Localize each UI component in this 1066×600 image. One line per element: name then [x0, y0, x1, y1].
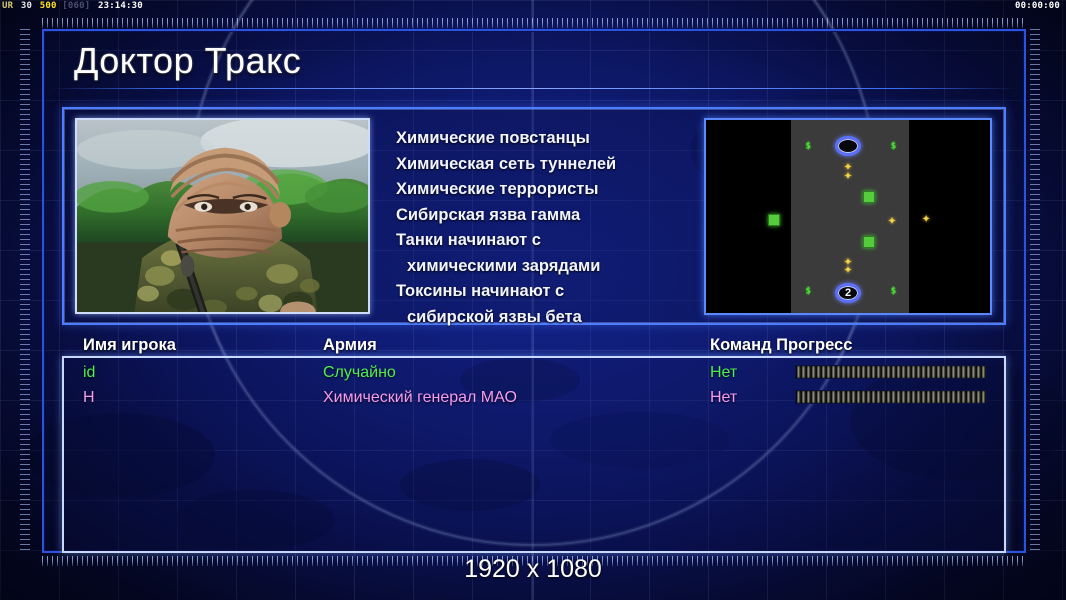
description-line: Химическая сеть туннелей: [396, 152, 696, 178]
map-supply-marker: $: [806, 143, 811, 152]
map-supply-marker: $: [891, 287, 896, 296]
status-bar: UR 30 500 [060] 23:14:30 00:00:00: [0, 0, 1066, 13]
map-preview-frame: $$$$✦✦✦✦✦✦2: [704, 118, 992, 315]
progress-bar: [795, 365, 987, 379]
resolution-label: 1920 x 1080: [0, 555, 1066, 584]
status-clock-right: 00:00:00: [1015, 0, 1060, 13]
description-line: Токсины начинают с: [396, 279, 696, 305]
map-preview: $$$$✦✦✦✦✦✦2: [706, 120, 990, 313]
table-row[interactable]: HХимический генерал МАОНет: [62, 385, 1006, 410]
column-header-player-name: Имя игрока: [83, 336, 176, 355]
progress-bar: [795, 390, 987, 404]
description-line: сибирской язвы бета: [396, 305, 696, 331]
description-line: Танки начинают с: [396, 228, 696, 254]
column-header-team: Команд Прогресс: [710, 336, 852, 355]
map-supply-marker: $: [806, 287, 811, 296]
table-row[interactable]: idСлучайноНет: [62, 360, 1006, 385]
map-start-position[interactable]: [835, 136, 861, 156]
description-line: Сибирская язва гамма: [396, 203, 696, 229]
army-select-cell[interactable]: Химический генерал МАО: [323, 385, 517, 410]
map-tech-marker: ✦: [887, 219, 896, 226]
status-ur-label: UR: [0, 1, 13, 11]
map-structure-marker: [863, 191, 875, 203]
status-fps-value: 30: [19, 1, 32, 11]
title-underline: [50, 88, 1018, 89]
general-portrait-frame: [75, 118, 370, 314]
player-name-cell: H: [83, 385, 95, 410]
map-structure-marker: [768, 214, 780, 226]
status-clock-left: 23:14:30: [96, 1, 143, 11]
team-select-cell[interactable]: Нет: [710, 385, 737, 410]
general-portrait-image: [77, 120, 368, 313]
map-tech-marker: ✦: [843, 173, 852, 180]
map-start-position[interactable]: 2: [835, 283, 861, 303]
description-line: химическими зарядами: [396, 254, 696, 280]
description-line: Химические террористы: [396, 177, 696, 203]
status-bracket-value: [060]: [62, 1, 90, 11]
page-title: Доктор Тракс: [74, 40, 301, 82]
general-description: Химические повстанцыХимическая сеть тунн…: [396, 126, 696, 330]
team-select-cell[interactable]: Нет: [710, 360, 737, 385]
map-structure-marker: [863, 236, 875, 248]
general-info-panel: Химические повстанцыХимическая сеть тунн…: [62, 107, 1006, 325]
status-ping-value: 500: [38, 1, 57, 11]
description-line: Химические повстанцы: [396, 126, 696, 152]
player-table-header: Имя игрока Армия Команд Прогресс: [62, 336, 1006, 358]
column-header-army: Армия: [323, 336, 377, 355]
player-rows: idСлучайноНетHХимический генерал МАОНет: [62, 360, 1006, 410]
map-tech-marker: ✦: [921, 217, 930, 224]
player-name-cell: id: [83, 360, 95, 385]
map-tech-marker: ✦: [843, 267, 852, 274]
army-select-cell[interactable]: Случайно: [323, 360, 396, 385]
map-supply-marker: $: [891, 143, 896, 152]
